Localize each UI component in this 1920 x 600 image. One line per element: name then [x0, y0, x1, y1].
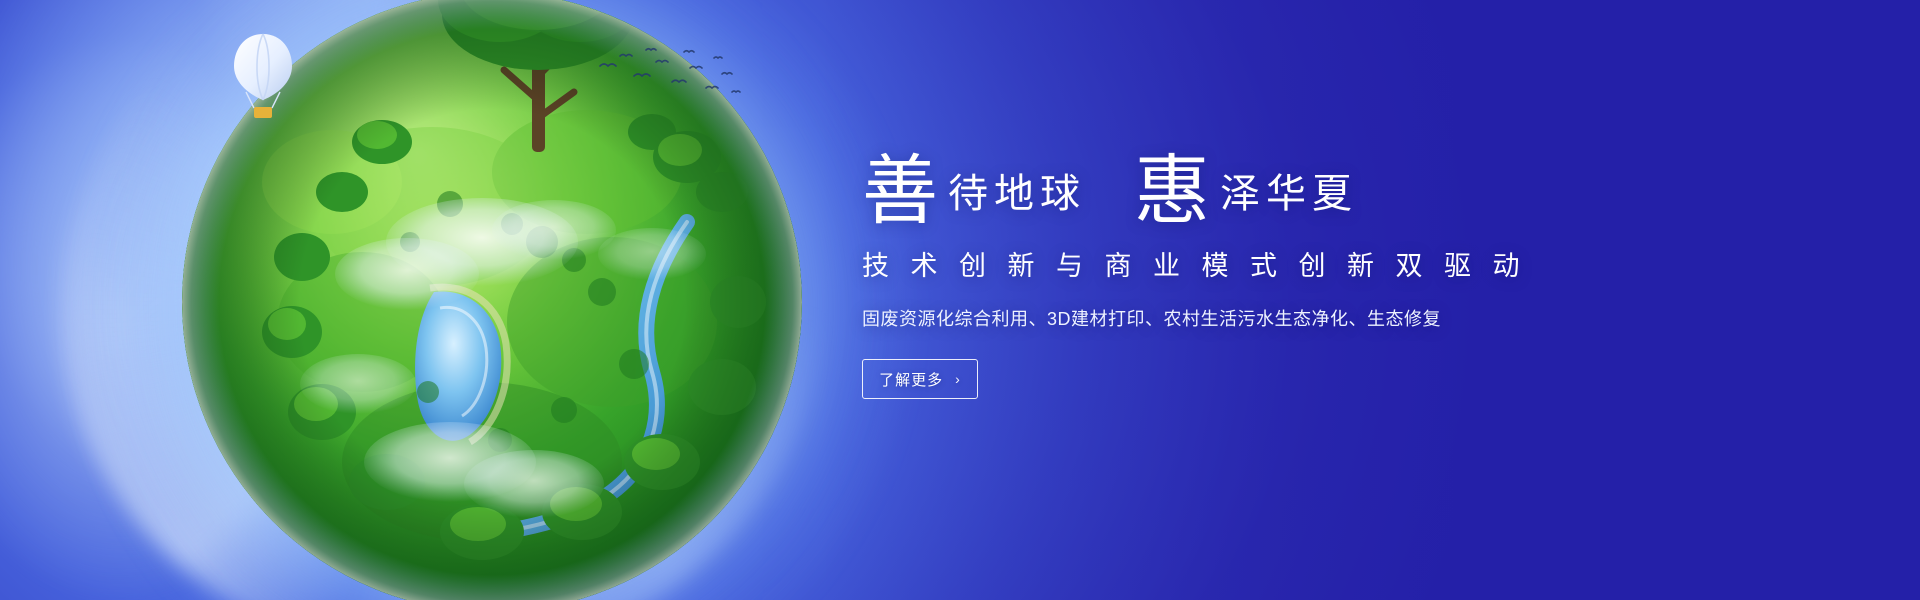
- headline-part1-small: 待地球: [938, 174, 1086, 222]
- hot-air-balloon: [228, 28, 298, 128]
- hero-subtitle: 技 术 创 新 与 商 业 模 式 创 新 双 驱 动: [862, 244, 1762, 283]
- hero-banner: 善 待地球 惠 泽华夏 技 术 创 新 与 商 业 模 式 创 新 双 驱 动 …: [0, 0, 1920, 600]
- bird-flock: [594, 44, 744, 104]
- headline-part2-big: 惠: [1134, 155, 1210, 226]
- hero-description: 固废资源化综合利用、3D建材打印、农村生活污水生态净化、生态修复: [862, 305, 1762, 331]
- headline-part2-small: 泽华夏: [1210, 174, 1358, 222]
- learn-more-label: 了解更多: [879, 369, 943, 390]
- chevron-right-icon: ›: [955, 371, 961, 387]
- hero-content: 善 待地球 惠 泽华夏 技 术 创 新 与 商 业 模 式 创 新 双 驱 动 …: [862, 132, 1762, 399]
- learn-more-button[interactable]: 了解更多 ›: [862, 359, 978, 399]
- headline-part1-big: 善: [862, 155, 938, 226]
- tiny-planet-globe: [142, 0, 842, 600]
- page-title: 善 待地球 惠 泽华夏: [862, 132, 1762, 222]
